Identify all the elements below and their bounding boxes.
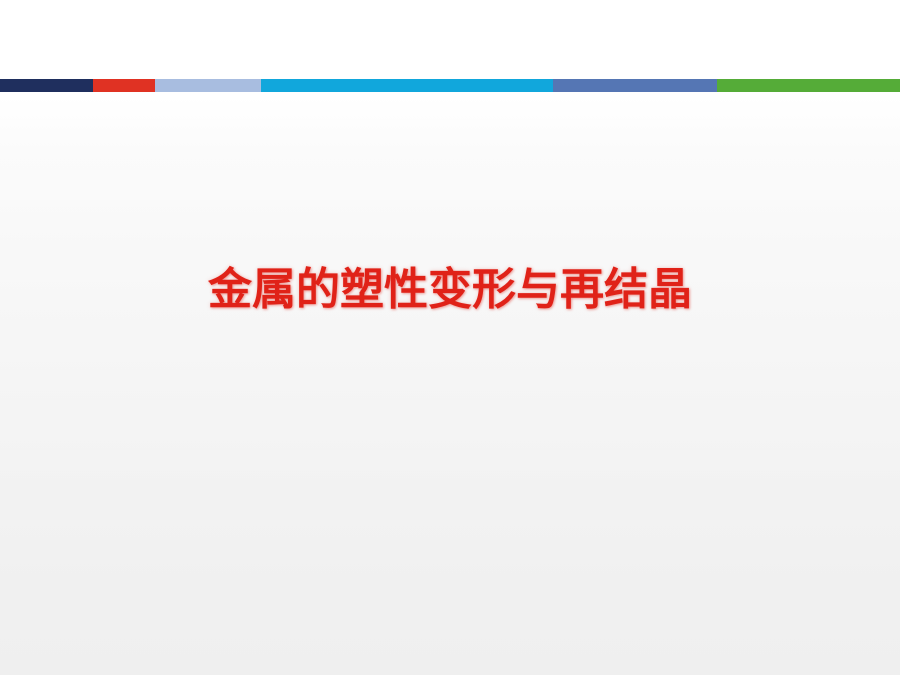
color-bar-segment-slate-blue — [553, 79, 717, 92]
corner-watermark — [836, 1, 894, 11]
slide-title-block: 金属的塑性变形与再结晶 — [0, 252, 900, 328]
color-bar-segment-cyan — [261, 79, 553, 92]
presentation-slide: 金属的塑性变形与再结晶 — [0, 0, 900, 675]
slide-header-band — [0, 0, 900, 79]
page-title: 金属的塑性变形与再结晶 — [208, 268, 692, 312]
color-bar-segment-red — [93, 79, 155, 92]
color-bar-segment-green — [717, 79, 900, 92]
decorative-color-bar — [0, 79, 900, 92]
color-bar-segment-light-blue — [155, 79, 261, 92]
color-bar-segment-navy — [0, 79, 93, 92]
